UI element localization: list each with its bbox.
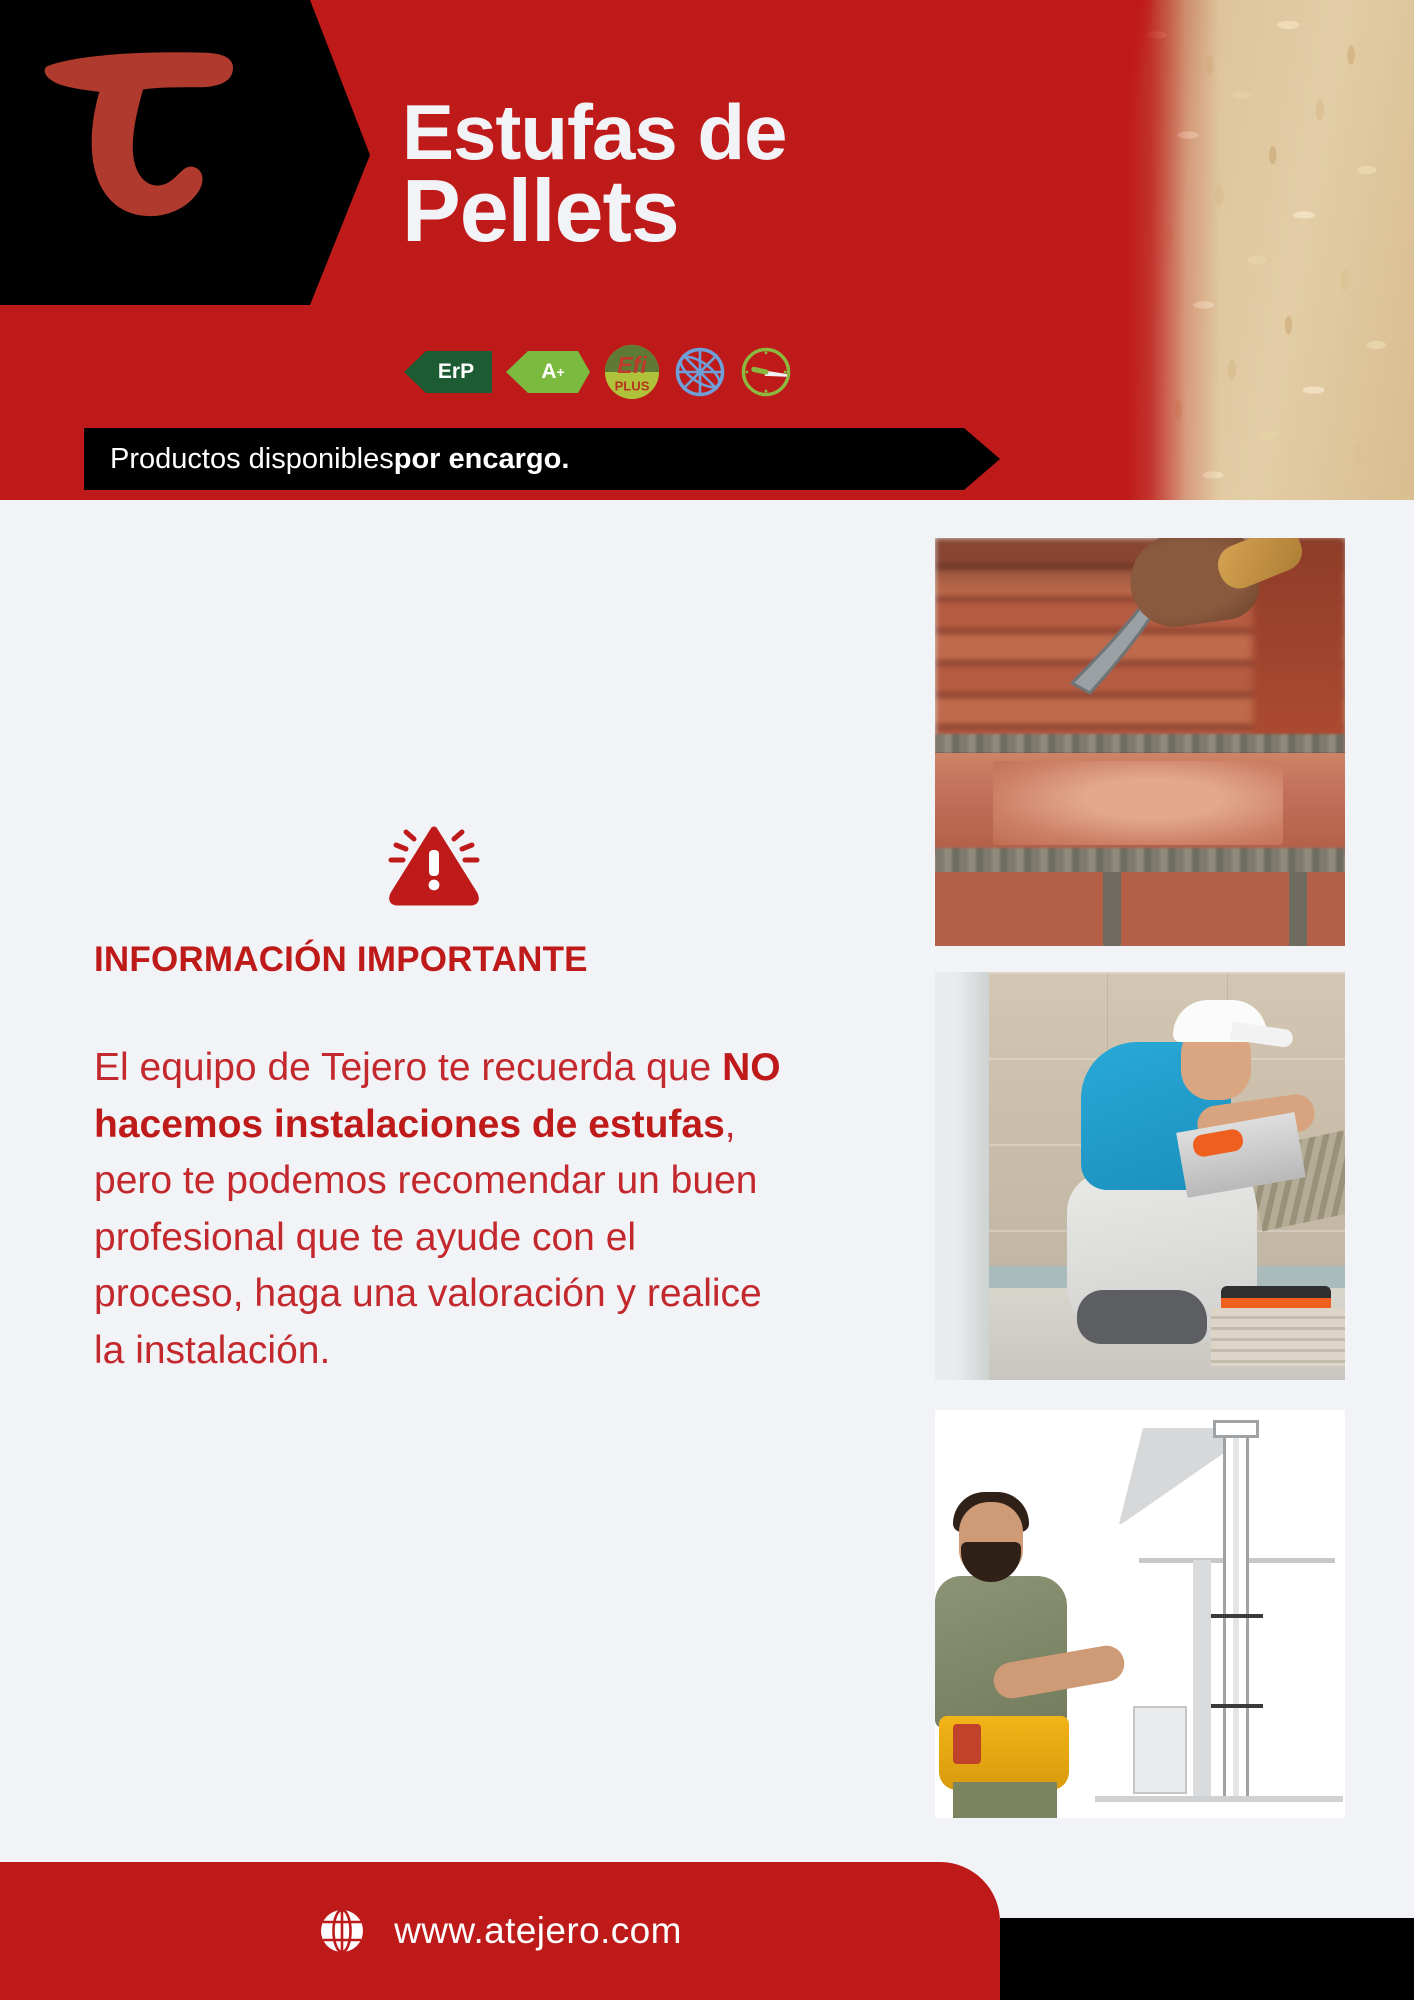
photo-flue-diagram bbox=[935, 1410, 1345, 1818]
wall-edge-column bbox=[935, 972, 989, 1380]
erp-badge: ErP bbox=[404, 350, 492, 394]
pellet-stove-outline bbox=[1133, 1706, 1187, 1794]
chimney-flue-pipe bbox=[1223, 1428, 1249, 1798]
paragraph-part-1: El equipo de Tejero te recuerda que bbox=[94, 1046, 722, 1089]
erp-badge-label: ErP bbox=[404, 351, 492, 393]
efi-plus-badge-icon: Efi PLUS bbox=[604, 344, 660, 400]
website-url[interactable]: www.atejero.com bbox=[394, 1910, 682, 1952]
a-plus-badge-label: A+ bbox=[506, 351, 590, 393]
svg-text:PLUS: PLUS bbox=[615, 379, 650, 394]
timer-badge-icon bbox=[740, 346, 792, 398]
flue-bracket-upper bbox=[1211, 1614, 1263, 1618]
order-banner-bold: por encargo. bbox=[394, 443, 570, 476]
svg-text:Efi: Efi bbox=[617, 352, 647, 378]
pellets-photo-fade bbox=[1100, 0, 1220, 500]
roof-line bbox=[1119, 1428, 1283, 1524]
mortar-layer-bottom bbox=[935, 848, 1345, 874]
footer-black-bar bbox=[1000, 1918, 1414, 2000]
footer-content: www.atejero.com bbox=[0, 1862, 1000, 2000]
efi-plus-badge: Efi PLUS bbox=[604, 350, 660, 394]
flue-bracket-lower bbox=[1211, 1704, 1263, 1708]
tile-stack bbox=[1211, 1308, 1345, 1366]
photo-tiler bbox=[935, 972, 1345, 1380]
wood-pellets-photo bbox=[1100, 0, 1414, 500]
photo-bricklaying bbox=[935, 538, 1345, 946]
chimney-cap bbox=[1213, 1420, 1259, 1438]
interior-wall bbox=[1193, 1560, 1211, 1800]
technician-body bbox=[935, 1576, 1067, 1728]
tau-logo-icon bbox=[28, 16, 258, 246]
brick-row-lower bbox=[935, 872, 1345, 946]
header-banner: Estufas de Pellets ErP A+ Efi PLUS bbox=[0, 0, 1414, 500]
a-plus-sup: + bbox=[556, 364, 564, 380]
ground-line bbox=[1095, 1796, 1343, 1802]
body-paragraph: El equipo de Tejero te recuerda que NO h… bbox=[94, 1040, 794, 1379]
title-line-2: Pellets bbox=[402, 169, 1042, 253]
fan-badge-icon bbox=[674, 346, 726, 398]
warning-triangle-icon bbox=[378, 812, 490, 910]
fan-badge bbox=[674, 350, 726, 394]
technician-legs bbox=[953, 1782, 1057, 1818]
section-heading: INFORMACIÓN IMPORTANTE bbox=[94, 940, 794, 980]
a-plus-badge: A+ bbox=[506, 350, 590, 394]
eco-badges-row: ErP A+ Efi PLUS bbox=[404, 350, 792, 394]
order-availability-banner: Productos disponibles por encargo. bbox=[84, 428, 1000, 490]
a-plus-letter: A bbox=[541, 360, 556, 384]
brick-foreground bbox=[935, 753, 1345, 853]
order-banner-text: Productos disponibles bbox=[110, 443, 394, 476]
tiler-cap bbox=[1173, 1000, 1267, 1042]
timer-badge bbox=[740, 350, 792, 394]
page-title: Estufas de Pellets bbox=[402, 95, 1042, 253]
globe-icon bbox=[318, 1907, 366, 1955]
tiler-boot bbox=[1077, 1290, 1207, 1344]
logo-pentagon[interactable] bbox=[0, 0, 370, 305]
technician-tool-belt bbox=[939, 1716, 1069, 1790]
